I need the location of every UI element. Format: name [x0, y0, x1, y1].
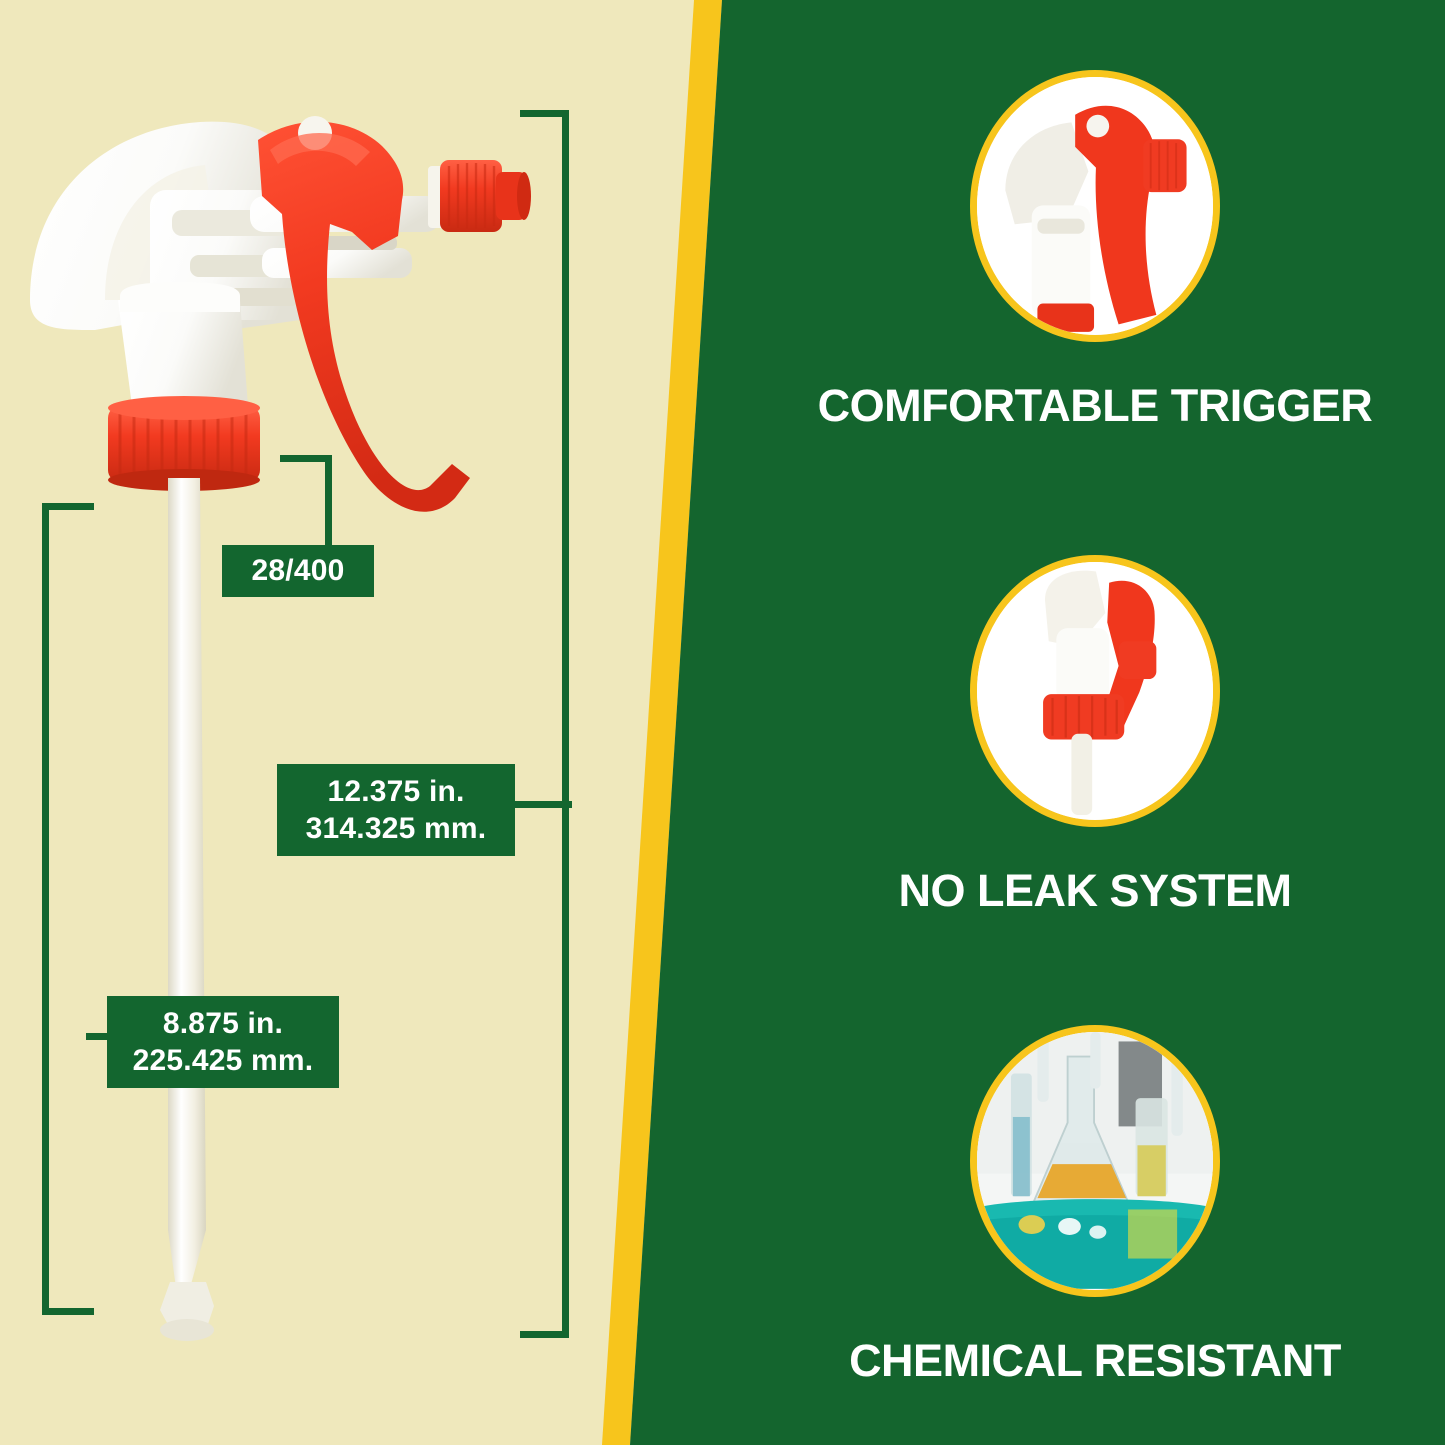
sprayer-collar-closeup-icon	[977, 562, 1213, 819]
dimension-bracket-neck-finish	[280, 455, 332, 547]
feature-comfortable-trigger: COMFORTABLE TRIGGER	[745, 70, 1445, 432]
feature-image-comfortable-trigger	[970, 70, 1220, 342]
dimension-overall-line-2: 314.325 mm.	[306, 810, 487, 847]
dimension-connector-overall-length	[507, 801, 572, 808]
feature-chemical-resistant: CHEMICAL RESISTANT	[745, 1025, 1445, 1387]
dimension-overall-line-1: 12.375 in.	[327, 773, 464, 810]
feature-image-no-leak-system	[970, 555, 1220, 827]
feature-title-comfortable-trigger: COMFORTABLE TRIGGER	[818, 380, 1373, 432]
sprayer-trigger-closeup-icon	[977, 77, 1213, 334]
dip-tube	[168, 478, 206, 1288]
dimension-tube-line-1: 8.875 in.	[163, 1005, 283, 1042]
feature-title-chemical-resistant: CHEMICAL RESISTANT	[849, 1335, 1341, 1387]
sprayer-collar	[108, 396, 260, 491]
dimension-label-neck-finish: 28/400	[222, 545, 374, 597]
dimension-bracket-overall-length	[520, 110, 569, 1338]
product-infographic: 28/400 12.375 in. 314.325 mm. 8.875 in. …	[0, 0, 1445, 1445]
feature-image-chemical-resistant	[970, 1025, 1220, 1297]
sprayer-arm-lower	[262, 248, 412, 278]
sprayer-neck-top	[120, 282, 240, 312]
dimension-tube-line-2: 225.425 mm.	[133, 1042, 314, 1079]
laboratory-glassware-icon	[977, 1032, 1213, 1289]
sprayer-neck	[118, 300, 248, 406]
dimension-bracket-dip-tube	[42, 503, 94, 1315]
feature-list: COMFORTABLE TRIGGER	[745, 0, 1445, 1445]
feature-title-no-leak-system: NO LEAK SYSTEM	[898, 865, 1291, 917]
dip-tube-foot-base	[160, 1319, 214, 1341]
sprayer-nozzle	[428, 160, 531, 232]
dimension-label-dip-tube: 8.875 in. 225.425 mm.	[107, 996, 339, 1088]
dimension-neck-line-1: 28/400	[252, 552, 345, 589]
feature-no-leak-system: NO LEAK SYSTEM	[745, 555, 1445, 917]
dimension-label-overall-length: 12.375 in. 314.325 mm.	[277, 764, 515, 856]
